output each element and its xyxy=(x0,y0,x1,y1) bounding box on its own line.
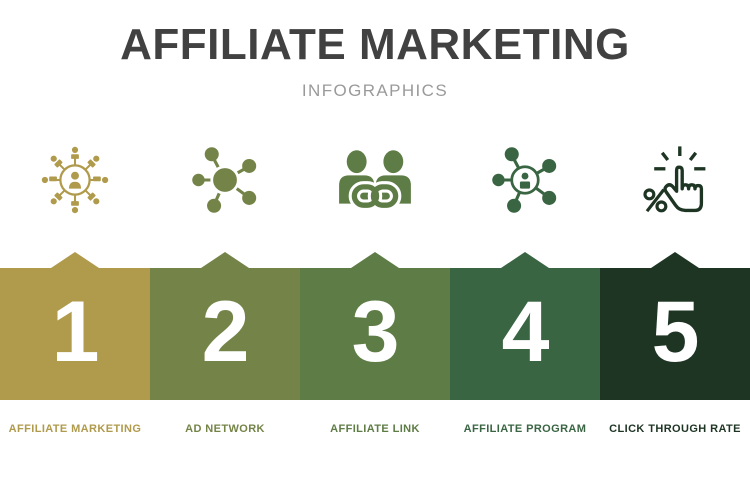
step-bar-2[interactable]: 2 xyxy=(150,268,300,400)
step-icon-1 xyxy=(0,130,150,230)
step-number-2: 2 xyxy=(202,289,249,375)
step-label-1: AFFILIATE MARKETING xyxy=(0,422,150,437)
steps-row: 1 AFFILIATE MARKETING xyxy=(0,0,750,500)
network-hub-person-icon xyxy=(486,141,564,219)
step-column-4[interactable]: 4 AFFILIATE PROGRAM xyxy=(450,0,600,500)
step-icon-2 xyxy=(150,130,300,230)
step-bar-1[interactable]: 1 xyxy=(0,268,150,400)
step-column-2[interactable]: 2 AD NETWORK xyxy=(150,0,300,500)
step-number-5: 5 xyxy=(652,289,699,375)
network-hub-icon xyxy=(186,141,264,219)
step-icon-5 xyxy=(600,130,750,230)
people-chain-link-icon xyxy=(333,145,417,215)
step-column-1[interactable]: 1 AFFILIATE MARKETING xyxy=(0,0,150,500)
step-label-5: CLICK THROUGH RATE xyxy=(600,422,750,437)
step-label-2: AD NETWORK xyxy=(150,422,300,437)
step-icon-3 xyxy=(300,130,450,230)
step-icon-4 xyxy=(450,130,600,230)
step-number-3: 3 xyxy=(352,289,399,375)
step-notch-4 xyxy=(501,252,549,268)
step-bar-5[interactable]: 5 xyxy=(600,268,750,400)
step-number-1: 1 xyxy=(52,289,99,375)
step-notch-3 xyxy=(351,252,399,268)
step-notch-2 xyxy=(201,252,249,268)
step-label-4: AFFILIATE PROGRAM xyxy=(450,422,600,437)
click-percent-hand-icon xyxy=(635,140,715,220)
step-column-5[interactable]: 5 CLICK THROUGH RATE xyxy=(600,0,750,500)
step-notch-1 xyxy=(51,252,99,268)
step-column-3[interactable]: 3 AFFILIATE LINK xyxy=(300,0,450,500)
step-bar-3[interactable]: 3 xyxy=(300,268,450,400)
step-number-4: 4 xyxy=(502,289,549,375)
step-notch-5 xyxy=(651,252,699,268)
step-bar-4[interactable]: 4 xyxy=(450,268,600,400)
affiliate-network-users-icon xyxy=(32,137,118,223)
infographic-page: AFFILIATE MARKETING INFOGRAPHICS xyxy=(0,0,750,500)
step-label-3: AFFILIATE LINK xyxy=(300,422,450,437)
